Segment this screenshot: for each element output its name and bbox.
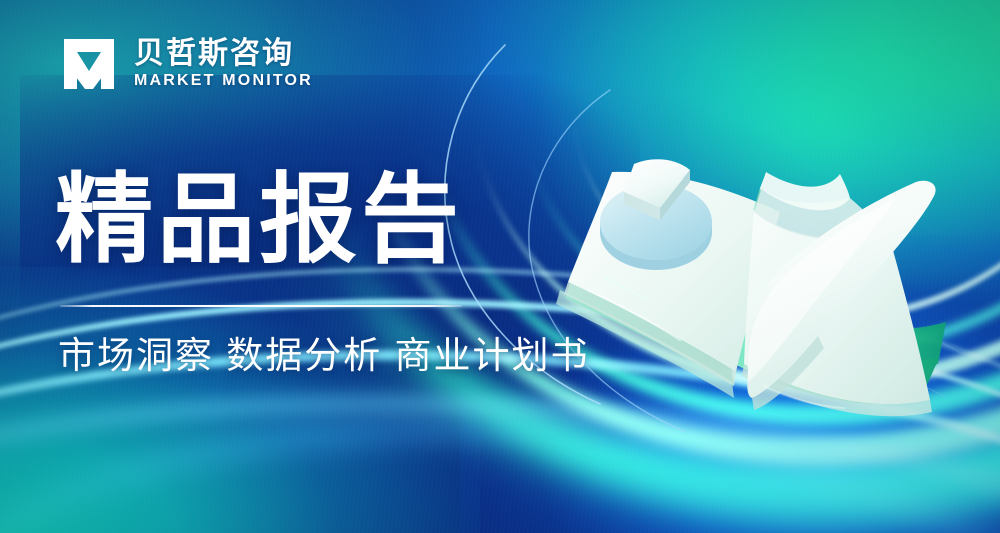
- headline-title: 精品报告: [55, 168, 463, 272]
- headline-divider: [60, 305, 462, 307]
- brand-logo[interactable]: 贝哲斯咨询 MARKET MONITOR: [58, 33, 313, 95]
- banner-content: 贝哲斯咨询 MARKET MONITOR 精品报告 市场洞察 数据分析 商业计划…: [0, 0, 1000, 533]
- brand-name-cn: 贝哲斯咨询: [134, 38, 313, 69]
- promo-banner: 贝哲斯咨询 MARKET MONITOR 精品报告 市场洞察 数据分析 商业计划…: [0, 0, 1000, 533]
- subheadline-text: 市场洞察 数据分析 商业计划书: [58, 332, 590, 380]
- brand-name-en: MARKET MONITOR: [134, 72, 313, 90]
- market-monitor-m-mark-icon: [58, 33, 120, 95]
- brand-wordmark: 贝哲斯咨询 MARKET MONITOR: [134, 38, 313, 90]
